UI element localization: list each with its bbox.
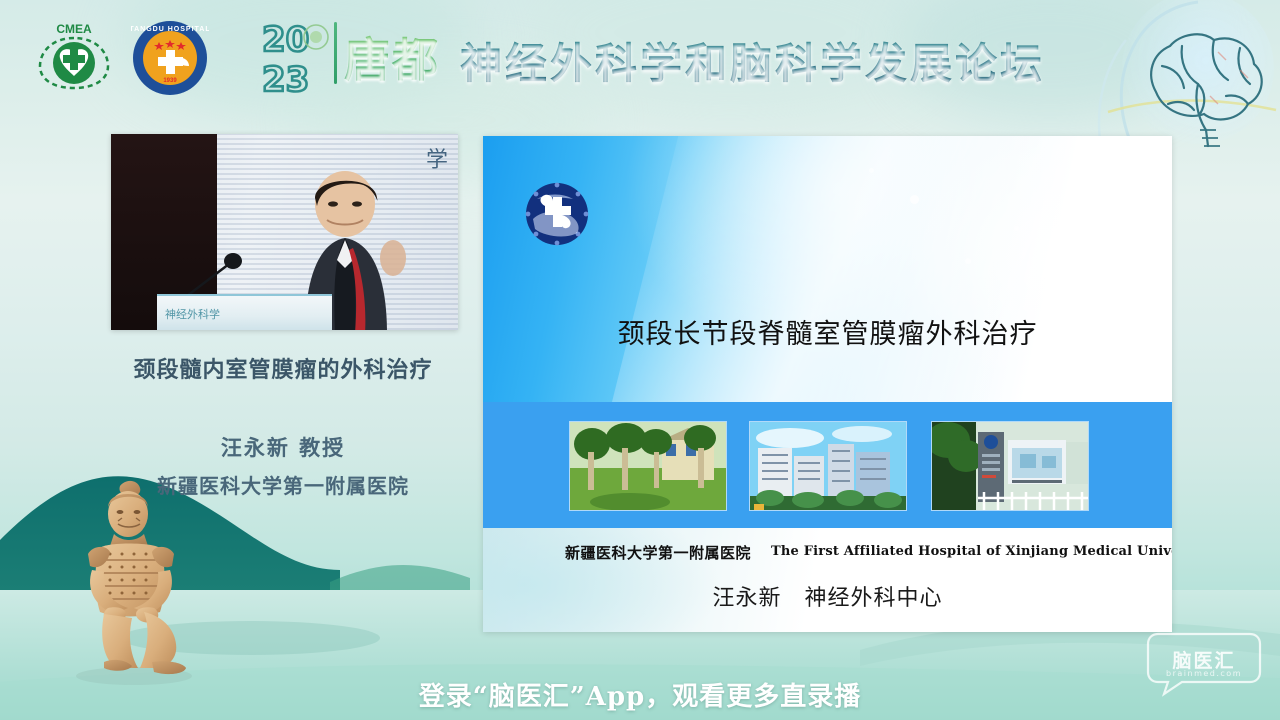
- presentation-slide[interactable]: 颈段长节段脊髓室管膜瘤外科治疗: [483, 136, 1172, 632]
- slide-hospital-name-en: The First Affiliated Hospital of Xinjian…: [771, 544, 1172, 559]
- hospital-buildings-photo: [749, 421, 907, 511]
- slide-title-area: 颈段长节段脊髓室管膜瘤外科治疗: [483, 136, 1172, 402]
- event-header: CMEA TANGDU HOSPITAL 1939 20 23 唐都 神经外科学…: [0, 0, 1280, 110]
- brand-tangdu-text: 唐都: [344, 24, 440, 90]
- year-badge-2023: 20 23: [258, 17, 334, 97]
- year-badge-top: 20: [262, 20, 309, 60]
- slide-bubble: [910, 195, 919, 204]
- slide-footer-area: 新疆医科大学第一附属医院 The First Affiliated Hospit…: [483, 528, 1172, 632]
- promo-banner-text: 登录“脑医汇”App，观看更多直录播: [0, 676, 1280, 713]
- tangdu-logo-year: 1939: [163, 78, 177, 84]
- terracotta-warrior-mascot: [58, 478, 206, 686]
- speaker-organization: 新疆医科大学第一附属医院: [0, 470, 566, 499]
- cmea-logo-label: CMEA: [56, 22, 92, 36]
- tangdu-hospital-logo: TANGDU HOSPITAL 1939: [131, 20, 209, 96]
- brand-divider: [334, 22, 337, 84]
- xinjiang-hospital-emblem: [523, 181, 591, 247]
- slide-main-title: 颈段长节段脊髓室管膜瘤外科治疗: [483, 312, 1172, 351]
- slide-bubble: [1048, 306, 1053, 311]
- video-podium-text: 神经外科学: [165, 306, 220, 322]
- slide-presenter-line: 汪永新 神经外科中心: [483, 580, 1172, 612]
- slide-hospital-name-cn: 新疆医科大学第一附属医院: [565, 542, 751, 563]
- campus-garden-photo: [569, 421, 727, 511]
- speaker-live-video[interactable]: 学 神经外科学: [111, 134, 458, 330]
- brainmed-watermark: 脑医汇 brainmed.com: [1142, 628, 1266, 698]
- slide-bubble: [869, 168, 874, 173]
- cmea-logo: CMEA: [30, 20, 118, 92]
- tangdu-logo-label: TANGDU HOSPITAL: [131, 26, 209, 33]
- video-podium: 神经外科学: [157, 294, 332, 330]
- speaker-name: 汪永新 教授: [0, 432, 566, 462]
- year-badge-bottom: 23: [262, 60, 309, 97]
- forum-title: 神经外科学和脑科学发展论坛: [460, 30, 1045, 91]
- talk-title: 颈段髓内室管膜瘤的外科治疗: [0, 352, 566, 384]
- hospital-entrance-sign-photo: [931, 421, 1089, 511]
- watermark-text-en: brainmed.com: [1142, 669, 1266, 678]
- slide-photo-band: [483, 402, 1172, 528]
